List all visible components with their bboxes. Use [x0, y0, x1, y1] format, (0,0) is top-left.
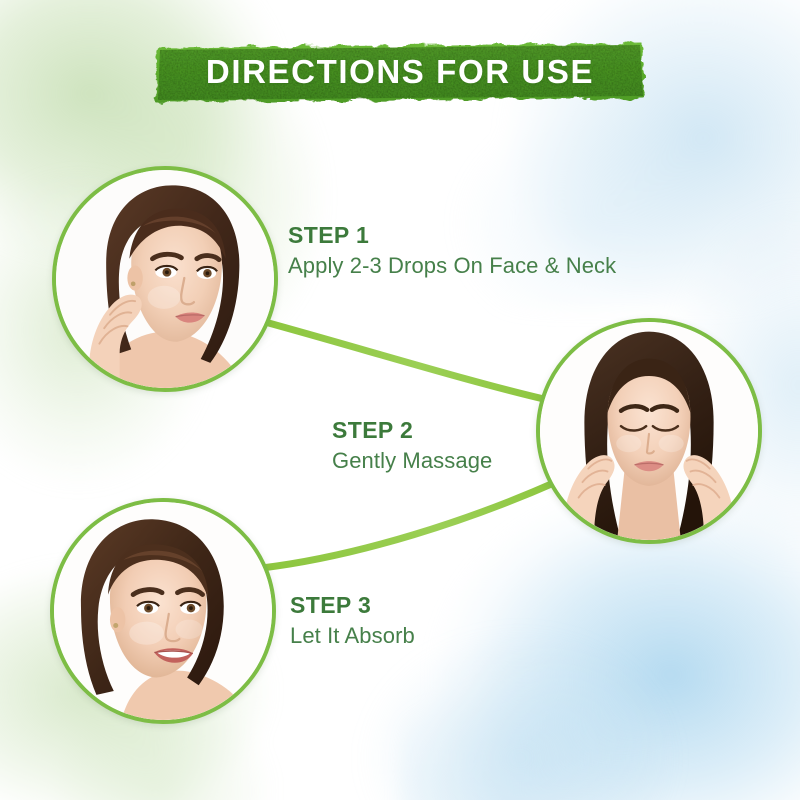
step-3-photo-circle	[50, 498, 276, 724]
step-3-description: Let It Absorb	[290, 622, 415, 651]
step-1-title: STEP 1	[288, 222, 616, 248]
step-2-text-block: STEP 2 Gently Massage	[332, 417, 492, 476]
step-1-photo-circle	[52, 166, 278, 392]
woman-applying-serum-to-cheek-photo	[56, 170, 274, 388]
step-3-title: STEP 3	[290, 592, 415, 618]
directions-for-use-poster: DIRECTIONS FOR USE	[0, 0, 800, 800]
woman-massaging-face-photo	[540, 322, 758, 540]
title-banner: DIRECTIONS FOR USE	[152, 38, 648, 108]
step-1-text-block: STEP 1 Apply 2-3 Drops On Face & Neck	[288, 222, 616, 281]
connector-step1-to-step2	[265, 322, 548, 400]
step-1-description: Apply 2-3 Drops On Face & Neck	[288, 252, 616, 281]
step-2-title: STEP 2	[332, 417, 492, 443]
step-2-photo-circle	[536, 318, 762, 544]
step-3-text-block: STEP 3 Let It Absorb	[290, 592, 415, 651]
connector-step3-to-step2	[262, 482, 556, 568]
step-2-description: Gently Massage	[332, 447, 492, 476]
page-title: DIRECTIONS FOR USE	[152, 38, 648, 108]
woman-smiling-glowing-skin-photo	[54, 502, 272, 720]
